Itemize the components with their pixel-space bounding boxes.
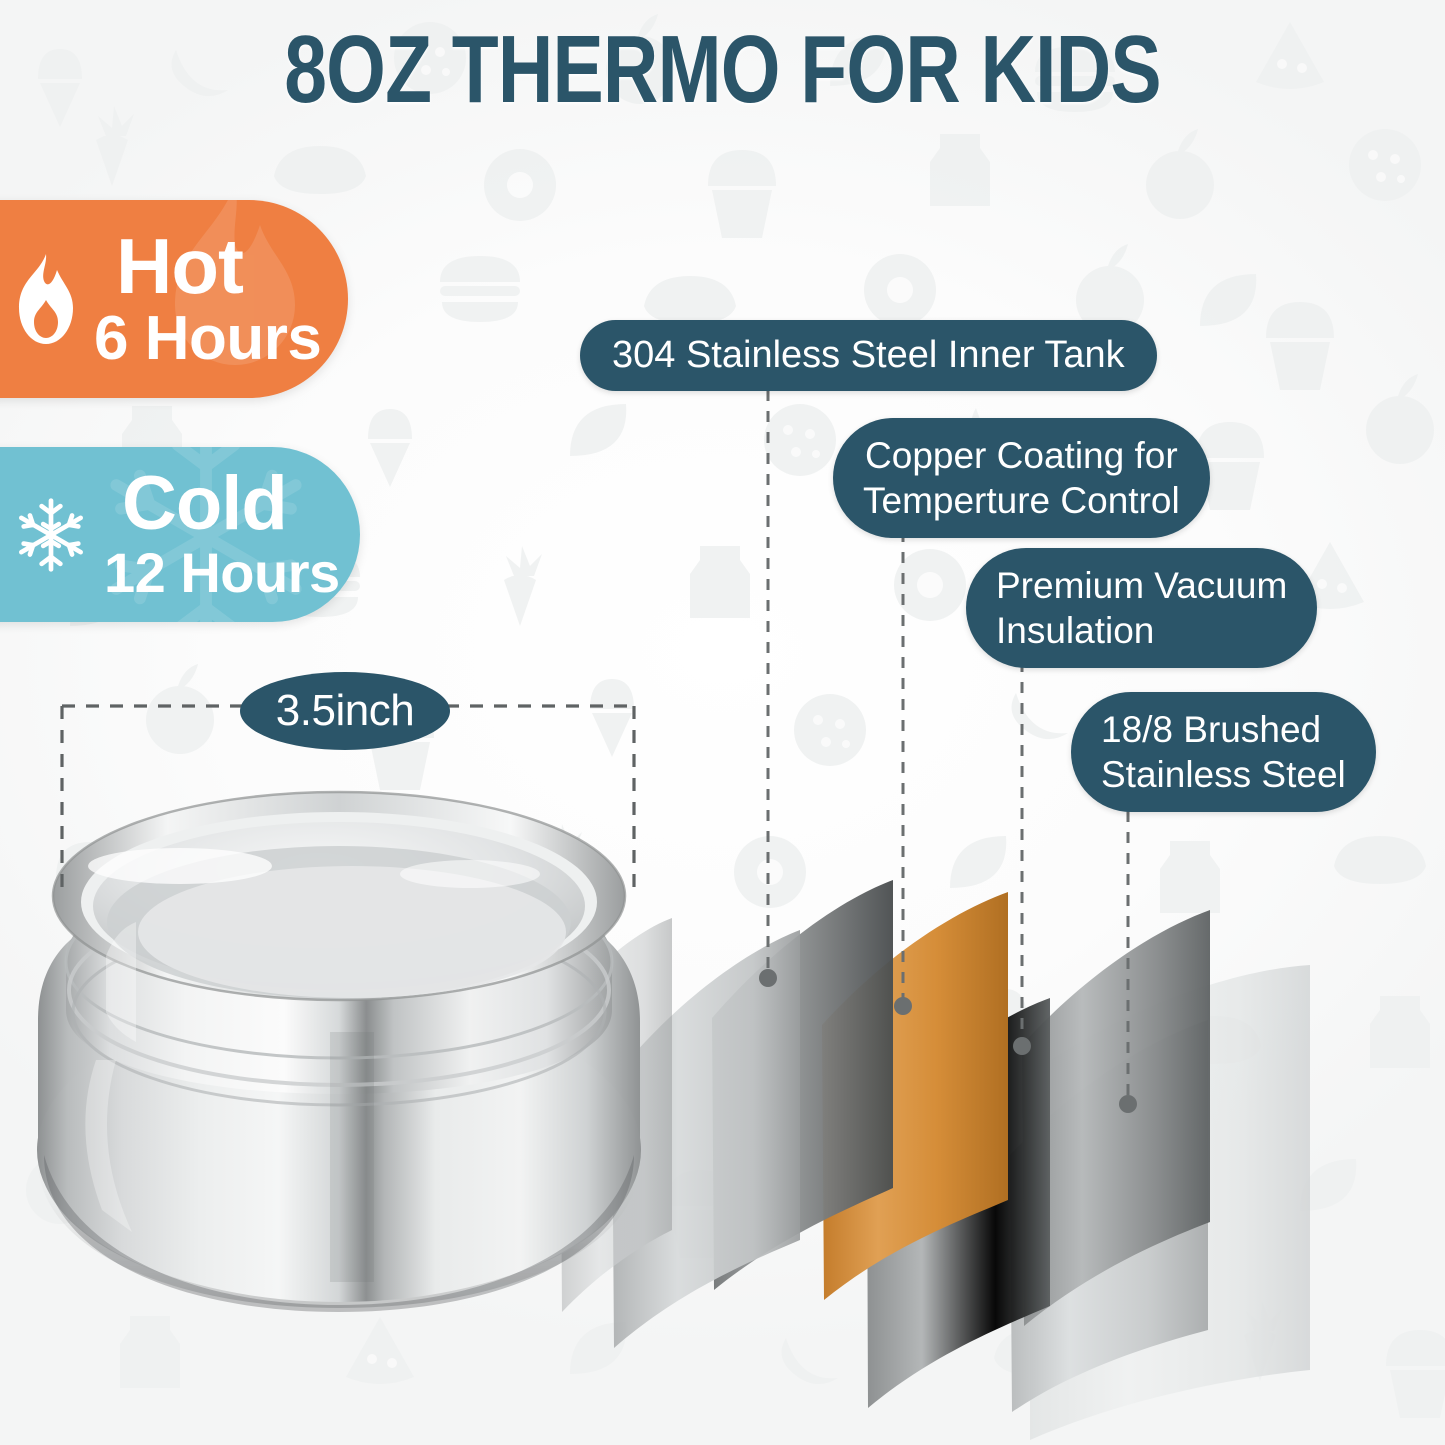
feature-pill-vacuum: Premium Vacuum Insulation [966, 548, 1317, 668]
thermos-jar [37, 792, 641, 1312]
infographic-canvas: 8OZ THERMO FOR KIDS Hot 6 Hours [0, 0, 1445, 1445]
feature-pill-brushed-steel: 18/8 Brushed Stainless Steel [1071, 692, 1376, 812]
feature-pill-inner-tank: 304 Stainless Steel Inner Tank [580, 320, 1157, 391]
dimension-label: 3.5inch [240, 672, 450, 750]
exploded-layers [560, 880, 1310, 1440]
feature-pill-copper-coating: Copper Coating for Temperture Control [833, 418, 1210, 538]
